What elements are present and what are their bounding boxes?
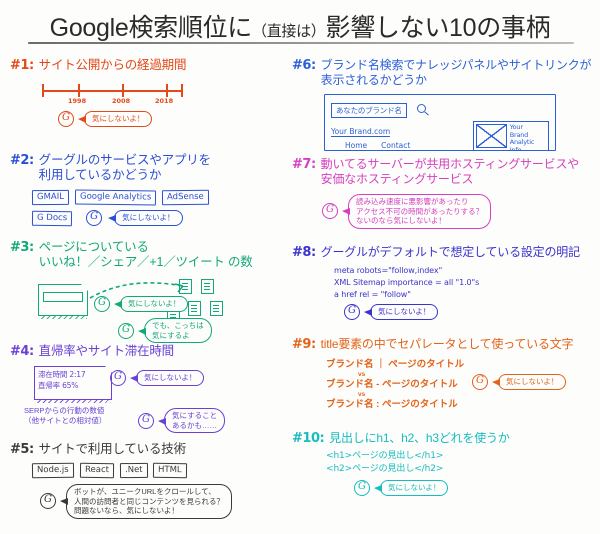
section-2-number: #2: xyxy=(10,153,34,168)
default-settings-code: meta robots="follow,index" XML Sitemap i… xyxy=(334,265,594,301)
knowledge-panel: Your Brand Analytic Info xyxy=(473,121,549,151)
bubble-line3: ないのなら気にしないよ！ xyxy=(356,216,446,225)
google-icon: G xyxy=(58,111,74,127)
section-10: #10: 見出しにh1、h2、h3どれを使うか <h1>ページの見出し</h1>… xyxy=(292,431,594,496)
section-7-number: #7: xyxy=(292,157,316,172)
service-box-google-analytics: Google Analytics xyxy=(75,190,156,206)
bubble-line1: 読み込み速度に悪影響があったり xyxy=(356,197,469,206)
bubble-line3: 問題ないなら、気にしないよ！ xyxy=(74,506,179,515)
bubble-line1: 気にすること xyxy=(172,411,217,420)
serp-behaviour-note: SERPからの行動の数値 （他サイトとの相対値） xyxy=(24,406,106,426)
bubble-line2: 人間の訪問者と同じコンテンツを見られる？ xyxy=(74,497,224,506)
bubble-line2: 気にするよ xyxy=(152,331,190,340)
section-7-heading-line1: 動いてるサーバーが共用ホスティングサービスや xyxy=(321,157,579,171)
title-part-a: Google検索順位に xyxy=(50,14,252,42)
sitelink-contact: Contact xyxy=(381,141,410,151)
panel-image-icon xyxy=(476,124,507,148)
code-line-2: XML Sitemap importance = all "1.0"s xyxy=(334,277,594,289)
section-1-number: #1: xyxy=(10,58,34,73)
section-5-heading: サイトで利用している技術 xyxy=(39,442,186,457)
search-icon xyxy=(417,104,426,113)
bubble-line2: アクセス不可の時間があったりする？ xyxy=(356,207,483,216)
google-icon: G xyxy=(40,493,56,509)
panel-line3: Analytic Info xyxy=(510,138,535,151)
title-divider xyxy=(28,42,574,44)
right-column: #6: ブランド名検索でナレッジパネルやサイトリンクが 表示されるかどうか あな… xyxy=(292,58,594,498)
section-2: #2: グーグルのサービスやアプリを 利用しているかどうか GMAIL Goog… xyxy=(10,153,290,238)
sitelink-home: Home xyxy=(345,141,367,151)
timeline-label-2008: 2008 xyxy=(112,97,130,105)
tech-box-dotnet: .Net xyxy=(120,463,148,478)
google-icon: G xyxy=(86,210,102,226)
timeline-label-1998: 1998 xyxy=(68,97,86,105)
section-10-heading: 見出しにh1、h2、h3どれを使うか xyxy=(329,431,509,446)
tech-box-html: HTML xyxy=(153,463,187,478)
metric-dwell-time: 滞在時間 2:17 xyxy=(38,369,108,380)
section-1: #1: サイト公開からの経過期間 1998 2008 2018 G 気 xyxy=(10,58,290,151)
section-3-heading-line1: ページについている xyxy=(39,240,149,254)
section-5: #5: サイトで利用している技術 Node.js React .Net HTML… xyxy=(10,442,290,519)
section-4-heading: 直帰率やサイト滞在時間 xyxy=(39,344,174,359)
title-part-b: 影響しない10の事柄 xyxy=(326,14,551,42)
note-line1: SERPからの行動の数値 xyxy=(24,406,104,415)
left-column: #1: サイト公開からの経過期間 1998 2008 2018 G 気 xyxy=(10,58,290,521)
bubble-line1: でも、こっちは xyxy=(152,321,204,330)
code-line-3: a href rel = "follow" xyxy=(334,289,594,301)
speech-bubble: 気にしないよ！ xyxy=(498,374,566,390)
section-7: #7: 動いてるサーバーが共用ホスティングサービスや 安価なホスティングサービス… xyxy=(292,157,594,243)
metrics-document: 滞在時間 2:17 直帰率 65% xyxy=(34,366,112,400)
section-3: #3: ページについている いいね！／シェア／+1／ツイート の数 xyxy=(10,240,290,342)
section-3-heading-line2: いいね！／シェア／+1／ツイート の数 xyxy=(39,255,253,269)
infographic-page: Google検索順位に（直接は）影響しない10の事柄 #1: サイト公開からの経… xyxy=(0,0,600,534)
bubble-line2: あるかも…… xyxy=(172,421,217,430)
section-8-heading: グーグルがデフォルトで想定している設定の明記 xyxy=(321,245,580,260)
speech-bubble: 気にしないよ！ xyxy=(120,296,188,312)
section-7-heading-line2: 安価なホスティングサービス xyxy=(321,172,474,186)
title-variant-3: ブランド名 : ページのタイトル xyxy=(326,398,594,412)
google-icon: G xyxy=(354,480,370,496)
speech-bubble: 気にしないよ！ xyxy=(136,370,204,386)
section-9-heading: title要素の中でセパレータとして使っている文字 xyxy=(321,337,574,352)
title-part-small: （直接は） xyxy=(252,23,326,40)
section-6-heading-line2: 表示されるかどうか xyxy=(321,73,427,87)
service-box-adsense: AdSense xyxy=(162,190,209,205)
section-10-number: #10: xyxy=(292,431,324,446)
speech-bubble: ボットが、ユニークURLをクロールして、 人間の訪問者と同じコンテンツを見られる… xyxy=(66,484,232,519)
section-9-number: #9: xyxy=(292,337,316,352)
google-icon: G xyxy=(472,374,488,390)
section-5-number: #5: xyxy=(10,442,34,457)
page-title: Google検索順位に（直接は）影響しない10の事柄 xyxy=(0,8,600,44)
metric-bounce-rate: 直帰率 65% xyxy=(38,380,108,391)
section-3-number: #3: xyxy=(10,240,34,255)
speech-bubble: 気にしないよ！ xyxy=(114,210,182,226)
section-8-number: #8: xyxy=(292,245,316,260)
code-line-1: <h1>ページの見出し</h1> xyxy=(326,450,594,463)
section-2-heading-line1: グーグルのサービスやアプリを xyxy=(39,153,211,167)
section-9: #9: title要素の中でセパレータとして使っている文字 ブランド名 ｜ ペー… xyxy=(292,337,594,429)
bubble-line1: ボットが、ユニークURLをクロールして、 xyxy=(74,487,216,496)
section-6: #6: ブランド名検索でナレッジパネルやサイトリンクが 表示されるかどうか あな… xyxy=(292,58,594,155)
note-line2: （他サイトとの相対値） xyxy=(24,416,106,425)
code-line-2: <h2>ページの見出し</h2> xyxy=(326,463,594,476)
section-1-heading: サイト公開からの経過期間 xyxy=(39,58,187,73)
google-icon: G xyxy=(94,296,110,312)
timeline: 1998 2008 2018 xyxy=(42,82,290,104)
speech-bubble-secondary: でも、こっちは 気にするよ xyxy=(144,318,212,343)
google-icon: G xyxy=(322,203,338,219)
section-6-heading-line1: ブランド名検索でナレッジパネルやサイトリンクが xyxy=(321,58,592,72)
google-icon: G xyxy=(344,304,360,320)
section-4: #4: 直帰率やサイト滞在時間 滞在時間 2:17 直帰率 65% G 気にしな… xyxy=(10,344,290,440)
speech-bubble: 読み込み速度に悪影響があったり アクセス不可の時間があったりする？ ないのなら気… xyxy=(348,194,491,229)
service-box-gdocs: G Docs xyxy=(32,210,72,225)
section-8: #8: グーグルがデフォルトで想定している設定の明記 meta robots="… xyxy=(292,245,594,335)
result-url: Your Brand.com xyxy=(331,127,390,137)
section-6-number: #6: xyxy=(292,58,316,73)
timeline-label-2018: 2018 xyxy=(155,97,173,105)
search-query-box: あなたのブランド名 xyxy=(331,103,407,118)
tech-box-nodejs: Node.js xyxy=(32,463,74,478)
speech-bubble: 気にしないよ！ xyxy=(370,304,438,320)
tech-box-react: React xyxy=(80,463,114,478)
page-document-icon xyxy=(38,284,88,316)
service-box-gmail: GMAIL xyxy=(32,190,69,205)
heading-tags-code: <h1>ページの見出し</h1> <h2>ページの見出し</h2> xyxy=(326,450,594,476)
google-icon: G xyxy=(110,370,126,386)
google-icon: G xyxy=(138,413,154,429)
code-line-1: meta robots="follow,index" xyxy=(334,265,594,277)
title-variant-1: ブランド名 ｜ ページのタイトル xyxy=(326,358,594,372)
google-icon: G xyxy=(118,323,134,339)
speech-bubble: 気にしないよ！ xyxy=(380,480,448,496)
section-2-heading-line2: 利用しているかどうか xyxy=(39,168,162,182)
serp-mockup: あなたのブランド名 Your Brand.com Home Contact Ab… xyxy=(324,94,556,151)
speech-bubble: 気にしないよ！ xyxy=(84,111,152,127)
speech-bubble-secondary: 気にすること あるかも…… xyxy=(164,408,225,433)
section-4-number: #4: xyxy=(10,344,34,359)
